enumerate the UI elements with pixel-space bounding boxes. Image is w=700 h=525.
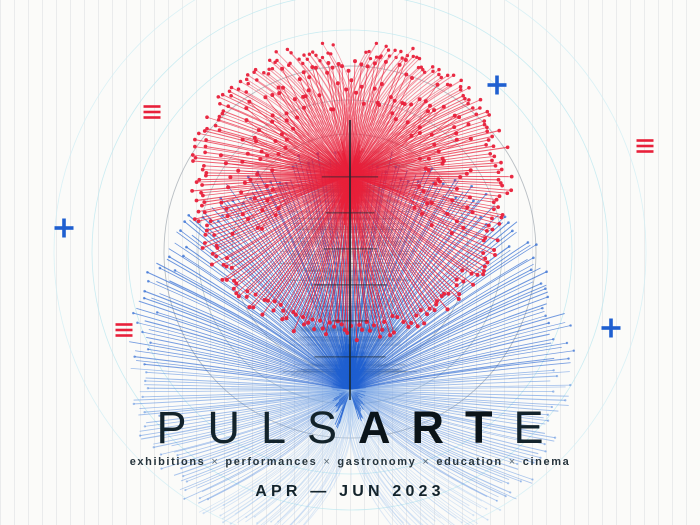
subtitle-categories: exhibitions×performances×gastronomy×educ… <box>0 456 700 468</box>
typography-block: PULSARTE exhibitions×performances×gastro… <box>0 405 700 525</box>
title-letter-e-7: E <box>514 405 544 450</box>
subtitle-separator: × <box>205 456 225 468</box>
plus-icon <box>486 74 508 96</box>
subtitle-separator: × <box>503 456 523 468</box>
triple-bar-icon <box>634 135 656 157</box>
plus-icon <box>600 317 622 339</box>
subtitle-separator: × <box>416 456 436 468</box>
title-letter-a-4: A <box>358 405 391 450</box>
page-title: PULSARTE <box>0 405 700 450</box>
title-letter-l-2: L <box>261 405 286 450</box>
title-letter-s-3: S <box>307 405 337 450</box>
subtitle-item-education: education <box>436 456 502 468</box>
red-ray-burst <box>190 42 513 342</box>
poster-canvas: PULSARTE exhibitions×performances×gastro… <box>0 0 700 525</box>
subtitle-item-cinema: cinema <box>523 456 571 468</box>
subtitle-item-performances: performances <box>225 456 317 468</box>
subtitle-separator: × <box>317 456 337 468</box>
date-range: APR — JUN 2023 <box>0 483 700 501</box>
subtitle-item-exhibitions: exhibitions <box>130 456 206 468</box>
triple-bar-icon <box>113 319 135 341</box>
triple-bar-icon <box>141 101 163 123</box>
title-letter-r-5: R <box>412 405 445 450</box>
title-letter-t-6: T <box>465 405 493 450</box>
title-letter-p-0: P <box>156 405 186 450</box>
subtitle-item-gastronomy: gastronomy <box>337 456 416 468</box>
plus-icon <box>53 217 75 239</box>
title-letter-u-1: U <box>207 405 240 450</box>
